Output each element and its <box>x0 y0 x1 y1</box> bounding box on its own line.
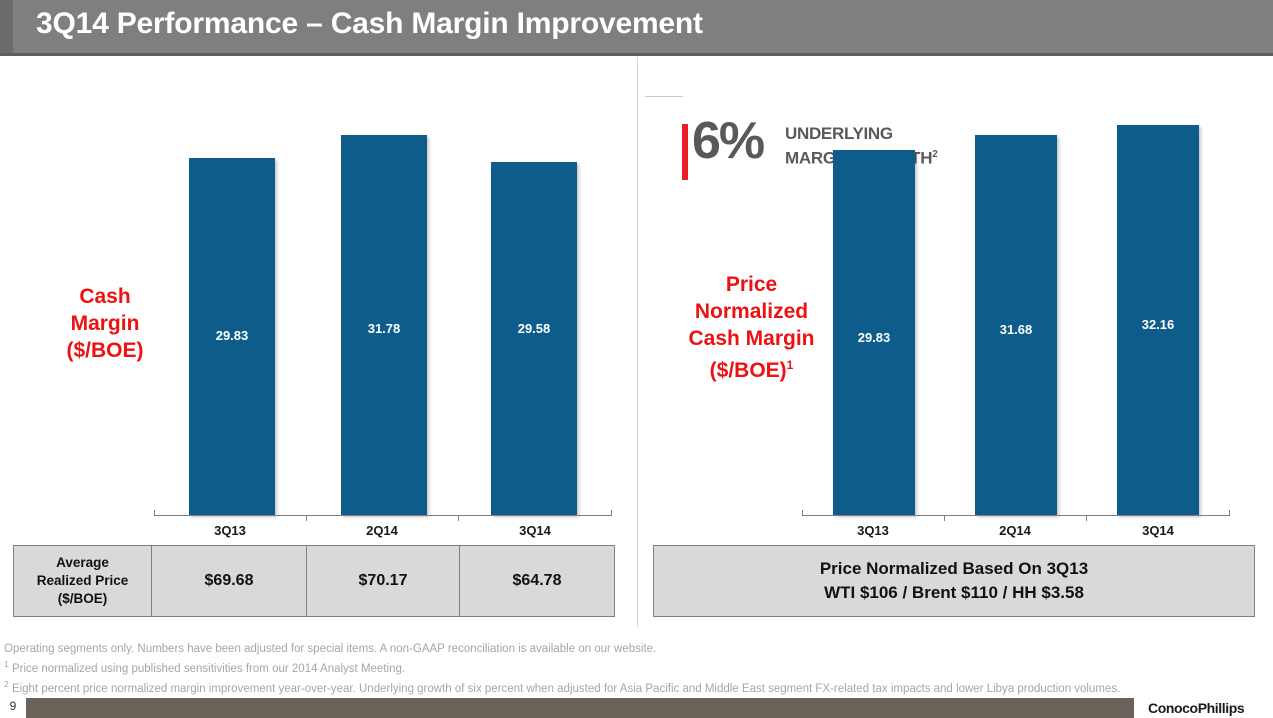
right-axis-tick-1 <box>944 515 945 521</box>
conocophillips-logo: ConocoPhillips <box>1134 698 1273 718</box>
right-chart: Price Normalized Cash Margin ($/BOE)1 29… <box>637 55 1273 535</box>
slide: 3Q14 Performance – Cash Margin Improveme… <box>0 0 1273 718</box>
right-axis-tick-0 <box>802 510 803 516</box>
page-title: 3Q14 Performance – Cash Margin Improveme… <box>36 7 703 41</box>
bar-right-2Q14: 31.68 <box>975 135 1057 515</box>
footer-brown-strip <box>26 698 1134 718</box>
right-label-line-2: Normalized <box>695 300 808 323</box>
table-header-cell: Average Realized Price ($/BOE) <box>14 546 152 616</box>
left-category-label-2: 3Q14 <box>459 523 611 538</box>
price-normalized-note-box: Price Normalized Based On 3Q13 WTI $106 … <box>653 545 1255 617</box>
left-label-line-3: ($/BOE) <box>66 339 143 362</box>
footnote-2-marker: 2 <box>4 679 9 689</box>
footnote-2: 2 Eight percent price normalized margin … <box>4 677 1269 697</box>
footnote-2-text: Eight percent price normalized margin im… <box>12 682 1120 694</box>
right-label-line-3: Cash Margin <box>688 327 814 350</box>
footer-bar: 9 ConocoPhillips <box>0 698 1273 718</box>
title-left-accent-strip <box>0 0 13 55</box>
bar-value-left-1: 31.78 <box>341 321 427 336</box>
bar-value-right-0: 29.83 <box>833 330 915 345</box>
bar-left-2Q14: 31.78 <box>341 135 427 515</box>
right-category-label-1: 2Q14 <box>944 523 1086 538</box>
footnote-1-text: Price normalized using published sensiti… <box>12 663 405 675</box>
page-number: 9 <box>2 699 24 713</box>
right-label-line-1: Price <box>726 273 777 296</box>
left-axis-tick-0 <box>154 510 155 516</box>
left-chart: Cash Margin ($/BOE) 29.83 31.78 29.58 3Q… <box>0 55 637 535</box>
bar-value-right-2: 32.16 <box>1117 317 1199 332</box>
right-axis-tick-2 <box>1086 515 1087 521</box>
footnote-0: Operating segments only. Numbers have be… <box>4 637 1269 657</box>
bar-right-3Q14: 32.16 <box>1117 125 1199 515</box>
note-line-2: WTI $106 / Brent $110 / HH $3.58 <box>824 583 1084 602</box>
left-axis-tick-3 <box>611 510 612 516</box>
left-category-label-1: 2Q14 <box>306 523 458 538</box>
bar-left-3Q14: 29.58 <box>491 162 577 515</box>
left-label-line-1: Cash <box>79 285 130 308</box>
note-line-1: Price Normalized Based On 3Q13 <box>820 559 1088 578</box>
table-value-3Q13: $69.68 <box>152 546 307 616</box>
logo-swoosh-icon <box>1218 698 1240 706</box>
left-axis-tick-2 <box>458 515 459 521</box>
table-value-3Q14: $64.78 <box>460 546 614 616</box>
title-bar: 3Q14 Performance – Cash Margin Improveme… <box>0 0 1273 55</box>
table-value-2Q14: $70.17 <box>307 546 460 616</box>
left-category-label-0: 3Q13 <box>154 523 306 538</box>
right-label-line-4: ($/BOE) <box>710 359 787 382</box>
bar-value-left-0: 29.83 <box>189 328 275 343</box>
bar-value-right-1: 31.68 <box>975 322 1057 337</box>
right-axis-tick-3 <box>1229 510 1230 516</box>
table-header-line-3: ($/BOE) <box>58 591 108 606</box>
footnote-1-marker: 1 <box>4 659 9 669</box>
right-category-label-0: 3Q13 <box>802 523 944 538</box>
left-label-line-2: Margin <box>71 312 140 335</box>
bar-value-left-2: 29.58 <box>491 321 577 336</box>
right-chart-axis-label: Price Normalized Cash Margin ($/BOE)1 <box>664 271 839 384</box>
left-axis-tick-1 <box>306 515 307 521</box>
left-axis-line <box>154 515 612 516</box>
table-header-line-2: Realized Price <box>37 573 129 588</box>
footnotes: Operating segments only. Numbers have be… <box>4 637 1269 696</box>
bar-right-3Q13: 29.83 <box>833 150 915 515</box>
table-header-line-1: Average <box>56 555 109 570</box>
left-chart-axis-label: Cash Margin ($/BOE) <box>30 283 180 364</box>
right-category-label-2: 3Q14 <box>1087 523 1229 538</box>
footnote-1: 1 Price normalized using published sensi… <box>4 657 1269 677</box>
average-realized-price-table: Average Realized Price ($/BOE) $69.68 $7… <box>13 545 615 617</box>
right-axis-line <box>802 515 1230 516</box>
footnote-0-text: Operating segments only. Numbers have be… <box>4 643 656 655</box>
right-label-superscript: 1 <box>787 358 794 372</box>
bar-left-3Q13: 29.83 <box>189 158 275 515</box>
